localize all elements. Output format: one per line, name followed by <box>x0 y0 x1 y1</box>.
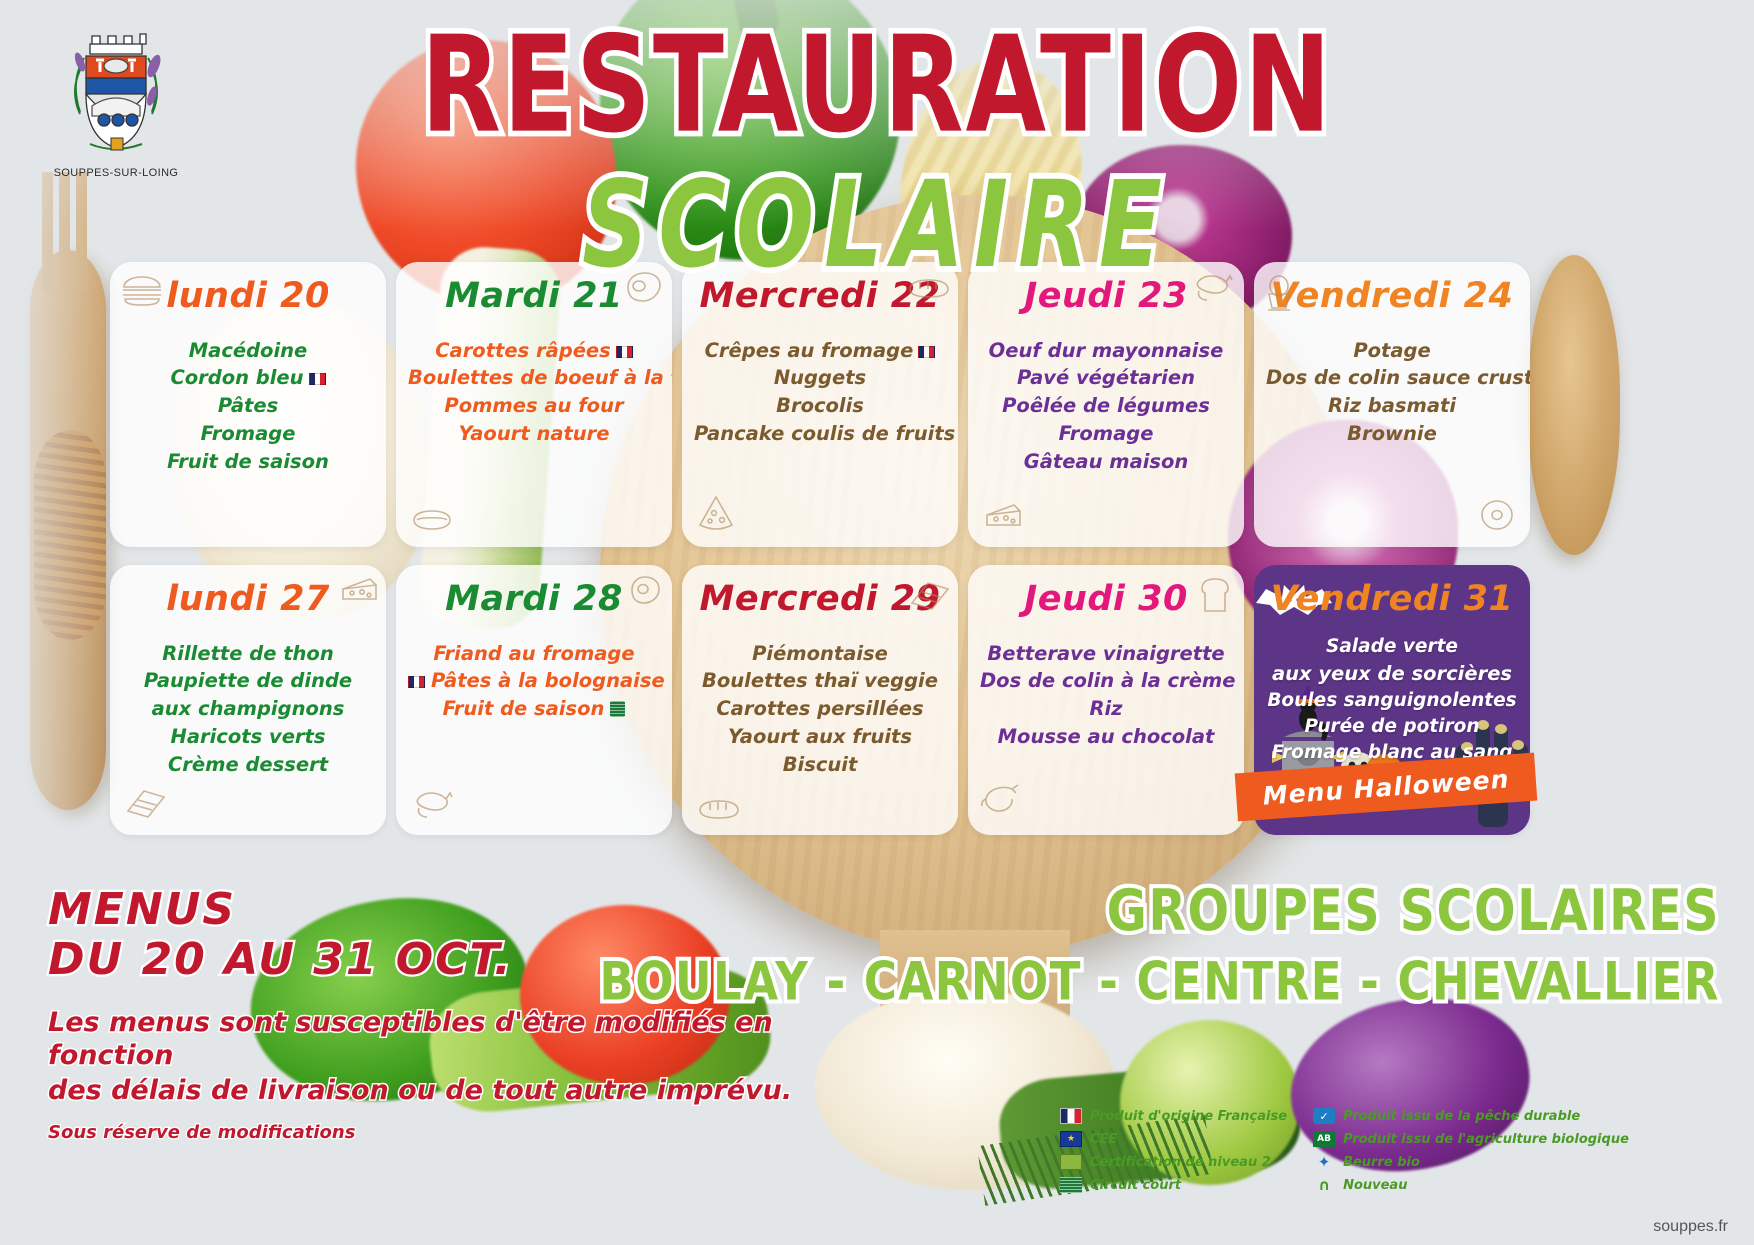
legend-item: CEE <box>1060 1131 1287 1147</box>
cheese-icon <box>338 575 380 607</box>
menu-item: Pommes au four <box>408 392 660 420</box>
poster-title: RESTAURATION SCOLAIRE <box>0 18 1754 258</box>
menu-item: Fromage <box>122 420 374 448</box>
menu-item: Salade verteaux yeux de sorcières <box>1266 634 1518 688</box>
menu-card-lundi-20: lundi 20MacédoineCordon bleuPâtesFromage… <box>110 262 386 547</box>
legend-label: CEE <box>1090 1132 1117 1147</box>
fried-egg-icon <box>624 573 664 607</box>
menu-items-list: PiémontaiseBoulettes thaï veggieCarottes… <box>694 640 946 778</box>
fr-flag-icon <box>1060 1108 1082 1124</box>
menu-item: Nuggets <box>694 364 946 392</box>
menu-item: Biscuit <box>694 751 946 779</box>
notice-line-1: Les menus sont susceptibles d'être modif… <box>48 1007 868 1073</box>
menu-card-lundi-27: lundi 27Rillette de thonPaupiette de din… <box>110 565 386 835</box>
menu-item: Friand au fromage <box>408 640 660 668</box>
legend-item: Nouveau <box>1313 1177 1629 1193</box>
day-title: Vendredi 31 <box>1266 581 1518 618</box>
menu-item: Betterave vinaigrette <box>980 640 1232 668</box>
menu-item: Boulettes de boeuf à la tomate <box>408 364 660 392</box>
menu-item: Carottes râpées <box>408 337 660 365</box>
menu-item: Haricots verts <box>122 723 374 751</box>
menu-week-2-row: lundi 27Rillette de thonPaupiette de din… <box>110 565 1530 835</box>
legend-column-1: Produit d'origine FrançaiseCEECertificat… <box>1060 1108 1287 1193</box>
menu-item: Cordon bleu <box>122 364 374 392</box>
menu-items-list: PotageDos de colin sauce crustacéRiz bas… <box>1266 337 1518 448</box>
legend-item: Beurre bio <box>1313 1154 1629 1170</box>
coat-of-arms-icon <box>56 22 176 162</box>
legend-label: Circuit court <box>1090 1178 1181 1193</box>
menu-item: Yaourt nature <box>408 420 660 448</box>
day-title: lundi 27 <box>122 581 374 618</box>
day-title: Mardi 28 <box>408 581 660 618</box>
menu-item: Boulettes thaï veggie <box>694 667 946 695</box>
shrimp-icon <box>978 781 1022 815</box>
menu-item: Mousse au chocolat <box>980 723 1232 751</box>
french-origin-flag-icon <box>408 676 425 688</box>
menu-grid: lundi 20MacédoineCordon bleuPâtesFromage… <box>110 262 1530 835</box>
site-url: souppes.fr <box>1653 1218 1728 1236</box>
day-title: Jeudi 30 <box>980 581 1232 618</box>
baguette-icon <box>696 797 742 821</box>
legend-label: Nouveau <box>1343 1178 1407 1193</box>
menu-item: Riz basmati <box>1266 392 1518 420</box>
legend-item: ABProduit issu de l'agriculture biologiq… <box>1313 1131 1629 1147</box>
menu-item: Pâtes <box>122 392 374 420</box>
french-origin-flag-icon <box>918 346 935 358</box>
msc-fish-icon <box>1313 1108 1335 1124</box>
menu-card-jeudi-30: Jeudi 30Betterave vinaigretteDos de coli… <box>968 565 1244 835</box>
certification-icon <box>1060 1154 1082 1170</box>
menu-item: Gâteau maison <box>980 448 1232 476</box>
menu-items-list: Friand au fromagePâtes à la bolognaiseFr… <box>408 640 660 723</box>
menu-card-mercredi-22: Mercredi 22Crêpes au fromageNuggetsBroco… <box>682 262 958 547</box>
notice-line-2: des délais de livraison ou de tout autre… <box>48 1075 868 1108</box>
menu-item: Dos de colin à la crème <box>980 667 1232 695</box>
menu-items-list: Salade verteaux yeux de sorcièresBoules … <box>1266 634 1518 767</box>
menu-item: Crème dessert <box>122 751 374 779</box>
menu-item: Poêlée de légumes <box>980 392 1232 420</box>
menu-item: Fruit de saison <box>122 448 374 476</box>
menu-items-list: Carottes râpéesBoulettes de boeuf à la t… <box>408 337 660 448</box>
menu-item: Oeuf dur mayonnaise <box>980 337 1232 365</box>
menu-item: Potage <box>1266 337 1518 365</box>
butter-bio-icon <box>1313 1154 1335 1170</box>
menu-item-sub: aux yeux de sorcières <box>1266 660 1518 688</box>
groupes-scolaires-line-2: BOULAY - CARNOT - CENTRE - CHEVALLIER <box>599 953 1720 1011</box>
menu-card-vendredi-24: Vendredi 24PotageDos de colin sauce crus… <box>1254 262 1530 547</box>
menu-item: Macédoine <box>122 337 374 365</box>
donut-icon <box>1478 497 1516 533</box>
menu-item: Crêpes au fromage <box>694 337 946 365</box>
ab-bio-icon: AB <box>1313 1131 1335 1147</box>
menu-item: Yaourt aux fruits <box>694 723 946 751</box>
cheese-icon <box>982 501 1024 533</box>
menu-item: Riz <box>980 695 1232 723</box>
menu-card-mardi-28: Mardi 28Friand au fromagePâtes à la bolo… <box>396 565 672 835</box>
title-line-2: SCOLAIRE <box>0 166 1754 286</box>
legend-item: Produit d'origine Française <box>1060 1108 1287 1124</box>
menu-item: Dos de colin sauce crustacé <box>1266 364 1518 392</box>
menu-item: Paupiette de dindeaux champignons <box>122 667 374 722</box>
pizza-icon <box>696 493 736 533</box>
menu-item-sub: aux champignons <box>122 695 374 723</box>
menu-items-list: Rillette de thonPaupiette de dindeaux ch… <box>122 640 374 778</box>
legend-label: Beurre bio <box>1343 1155 1420 1170</box>
menu-card-vendredi-31: Vendredi 31Salade verteaux yeux de sorci… <box>1254 565 1530 835</box>
french-origin-flag-icon <box>309 373 326 385</box>
menu-week-1-row: lundi 20MacédoineCordon bleuPâtesFromage… <box>110 262 1530 547</box>
legend-item: Circuit court <box>1060 1177 1287 1193</box>
legend-item: Produit issu de la pêche durable <box>1313 1108 1629 1124</box>
footer-right-block: GROUPES SCOLAIRES BOULAY - CARNOT - CENT… <box>599 880 1720 1003</box>
menu-items-list: MacédoineCordon bleuPâtesFromageFruit de… <box>122 337 374 475</box>
menu-card-mardi-21: Mardi 21Carottes râpéesBoulettes de boeu… <box>396 262 672 547</box>
legend-label: Produit d'origine Française <box>1090 1109 1287 1124</box>
sub-notice: Sous réserve de modifications <box>48 1122 868 1143</box>
legend-item: Certification de niveau 2 <box>1060 1154 1287 1170</box>
menu-item: Piémontaise <box>694 640 946 668</box>
menu-item: Carottes persillées <box>694 695 946 723</box>
french-origin-flag-icon <box>616 346 633 358</box>
menu-item: Boules sanguignolentes <box>1266 688 1518 714</box>
halloween-banner-label: Menu Halloween <box>1262 764 1510 810</box>
menu-item: Fruit de saison <box>408 695 660 723</box>
menu-item: Pancake coulis de fruits rouges <box>694 420 946 448</box>
menu-item: Brocolis <box>694 392 946 420</box>
menu-item: Fromage <box>980 420 1232 448</box>
hotdog-icon <box>410 507 454 533</box>
eu-flag-icon <box>1060 1131 1082 1147</box>
menu-item: Rillette de thon <box>122 640 374 668</box>
legend-column-2: Produit issu de la pêche durableABProdui… <box>1313 1108 1629 1193</box>
circuit-court-icon <box>610 701 625 717</box>
menu-item: Brownie <box>1266 420 1518 448</box>
municipality-logo: SOUPPES-SUR-LOING <box>26 22 206 179</box>
menu-items-list: Betterave vinaigretteDos de colin à la c… <box>980 640 1232 751</box>
groupes-scolaires-line-1: GROUPES SCOLAIRES <box>599 880 1720 944</box>
new-icon <box>1313 1177 1335 1193</box>
title-line-1: RESTAURATION <box>0 18 1754 151</box>
menu-items-list: Crêpes au fromageNuggetsBrocolisPancake … <box>694 337 946 448</box>
napkin-icon <box>124 787 168 821</box>
circuit-court-icon <box>1060 1177 1082 1193</box>
napkin-icon <box>908 579 952 613</box>
menu-items-list: Oeuf dur mayonnaisePavé végétarienPoêlée… <box>980 337 1232 475</box>
sausage-icon <box>410 787 456 821</box>
legend-label: Produit issu de la pêche durable <box>1343 1109 1580 1124</box>
municipality-name: SOUPPES-SUR-LOING <box>26 167 206 179</box>
menu-card-mercredi-29: Mercredi 29PiémontaiseBoulettes thaï veg… <box>682 565 958 835</box>
bread-slice-icon <box>1196 575 1234 615</box>
legend-panel: Produit d'origine FrançaiseCEECertificat… <box>1060 1108 1720 1193</box>
menu-item: Pâtes à la bolognaise <box>408 667 660 695</box>
menu-item: Pavé végétarien <box>980 364 1232 392</box>
legend-label: Produit issu de l'agriculture biologique <box>1343 1132 1629 1147</box>
menu-card-jeudi-23: Jeudi 23Oeuf dur mayonnaisePavé végétari… <box>968 262 1244 547</box>
menu-item: Purée de potiron <box>1266 714 1518 740</box>
legend-label: Certification de niveau 2 <box>1090 1155 1271 1170</box>
